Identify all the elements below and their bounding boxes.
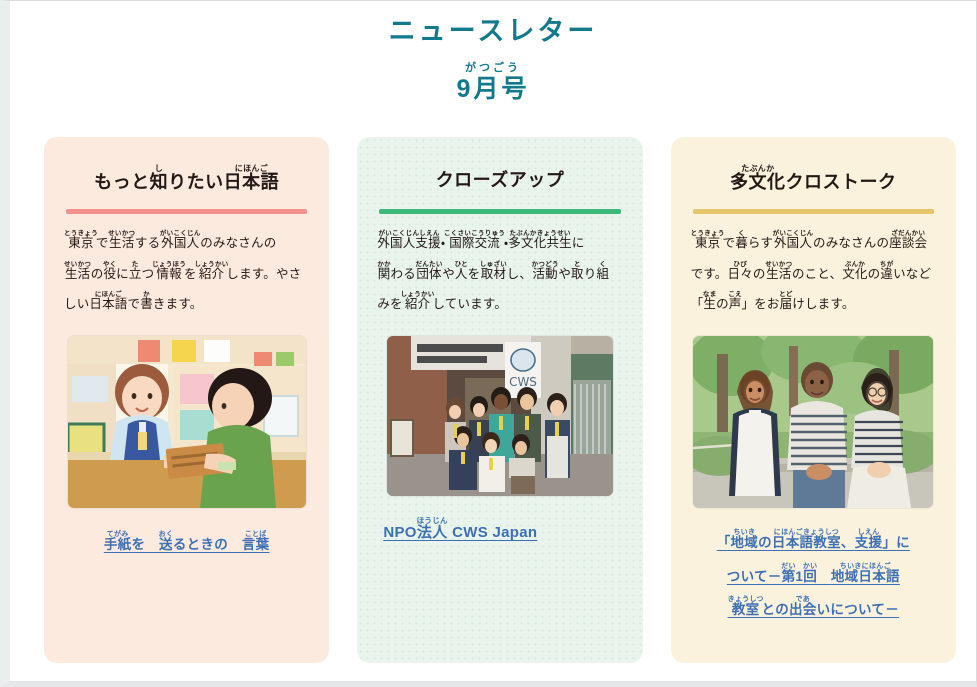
card-body: 東京とうきょうで生活せいかつする外国人がいこくじんのみなさんの生活せいかつの役や… xyxy=(64,228,309,320)
svg-text:CWS: CWS xyxy=(509,375,537,389)
card-title: クローズアップ xyxy=(377,159,622,193)
card-links: NPO法人ほうじん CWS Japan xyxy=(377,514,622,552)
cws-japan-staff-group-photo[interactable]: CWS xyxy=(387,336,613,496)
card-title: 多文化たぶんかクロストーク xyxy=(691,159,936,193)
card-close-up[interactable]: クローズアップ 外国人支援がいこくじんしえん・国際交流こくさいこうりゅう・多文化… xyxy=(357,137,642,663)
card-grid: もっと知しりたい日本語にほんご 東京とうきょうで生活せいかつする外国人がいこくじ… xyxy=(44,137,956,663)
card-link[interactable]: NPO法人ほうじん CWS Japan xyxy=(383,514,622,552)
newsletter-title: ニュースレター xyxy=(10,17,976,47)
issue-label: 9月号 xyxy=(457,76,530,104)
card-body-line: 関かかわる団体だんたいや人ひとを取材しゅざいし、活動かつどうや取とり組く xyxy=(377,259,622,290)
card-link[interactable]: 「地域ちいきの日本語教室にほんごきょうしつ、支援しえん」に xyxy=(691,526,936,560)
card-links: 手紙てがみを 送おくるときの 言葉ことば xyxy=(64,528,309,562)
three-people-outdoor-portrait[interactable] xyxy=(693,336,933,508)
page-header: ニュースレター がつごう 9月号 xyxy=(10,1,976,103)
card-motto-shiritai-nihongo[interactable]: もっと知しりたい日本語にほんご 東京とうきょうで生活せいかつする外国人がいこくじ… xyxy=(44,137,329,663)
card-accent-rule xyxy=(693,209,934,214)
card-body-line: 「生なまの声こえ」をお届とどけします。 xyxy=(691,289,936,320)
post-office-counter-illustration[interactable] xyxy=(68,336,306,508)
card-link[interactable]: ついて－第だい1回かい 地域日本語ちいきにほんご xyxy=(691,560,936,594)
card-body-line: 東京とうきょうで生活せいかつする外国人がいこくじんのみなさんの xyxy=(64,228,309,259)
card-link[interactable]: 教室きょうしつとの出会であいについて－ xyxy=(691,593,936,627)
card-title: もっと知しりたい日本語にほんご xyxy=(64,159,309,193)
issue-label-wrap: がつごう 9月号 xyxy=(457,63,530,104)
card-tabunka-cross-talk[interactable]: 多文化たぶんかクロストーク 東京とうきょうで暮くらす外国人がいこくじんのみなさん… xyxy=(671,137,956,663)
card-body-line: みを紹介しょうかいしています。 xyxy=(377,289,622,320)
card-link[interactable]: 手紙てがみを 送おくるときの 言葉ことば xyxy=(64,528,309,562)
card-body-line: しい日本語にほんごで書かきます。 xyxy=(64,289,309,320)
card-body-line: 生活せいかつの役やくに立たつ情報じょうほうを紹介しょうかいします。やさ xyxy=(64,259,309,290)
card-body: 東京とうきょうで暮くらす外国人がいこくじんのみなさんの座談会ざだんかいです。日々… xyxy=(691,228,936,320)
card-accent-rule xyxy=(66,209,307,214)
card-body-line: 東京とうきょうで暮くらす外国人がいこくじんのみなさんの座談会ざだんかい xyxy=(691,228,936,259)
issue-ruby: がつごう xyxy=(457,63,530,74)
card-links: 「地域ちいきの日本語教室にほんごきょうしつ、支援しえん」について－第だい1回かい… xyxy=(691,526,936,627)
card-body-line: です。日々ひびの生活せいかつのこと、文化ぶんかの違ちがいなど xyxy=(691,259,936,290)
card-body-line: 外国人支援がいこくじんしえん・国際交流こくさいこうりゅう・多文化共生たぶんかきょ… xyxy=(377,228,622,259)
card-accent-rule xyxy=(379,209,620,214)
card-body: 外国人支援がいこくじんしえん・国際交流こくさいこうりゅう・多文化共生たぶんかきょ… xyxy=(377,228,622,320)
newsletter-page: ニュースレター がつごう 9月号 もっと知しりたい日本語にほんご 東京とうきょう… xyxy=(0,0,977,687)
